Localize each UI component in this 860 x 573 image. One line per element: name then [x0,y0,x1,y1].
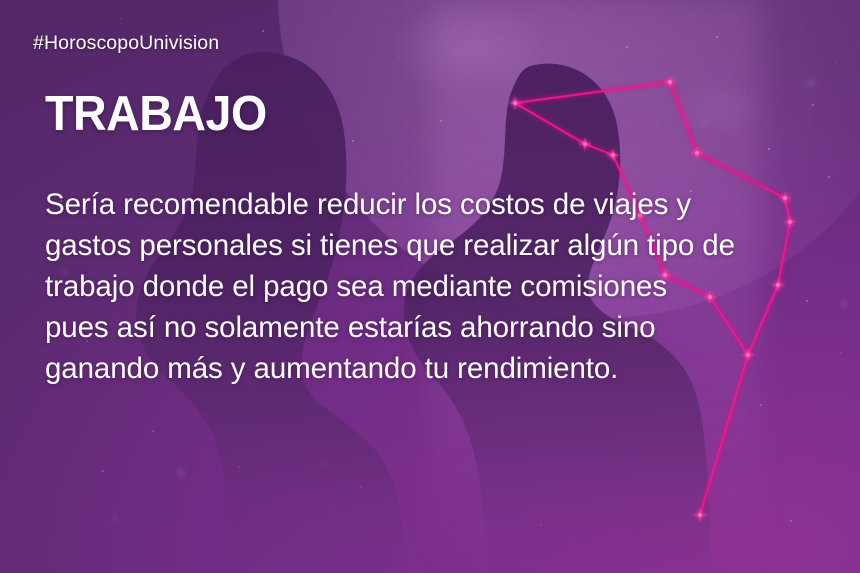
body-line: gastos personales si tienes que realizar… [45,225,845,266]
horoscope-card: #HoroscopoUnivision TRABAJO Sería recome… [0,0,860,573]
constellation-star-core [513,101,517,105]
constellation-line [585,144,613,155]
constellation-star-core [695,151,699,155]
body-line: Sería recomendable reducir los costos de… [45,184,845,225]
body-line: ganando más y aumentando tu rendimiento. [45,348,845,389]
page-title: TRABAJO [45,88,267,140]
constellation-star-core [668,80,672,84]
constellation-star-core [611,153,615,157]
constellation-line [670,82,697,153]
constellation-line [515,103,585,144]
constellation-line [515,82,670,103]
body-line: trabajo donde el pago sea mediante comis… [45,266,845,307]
constellation-star-core [698,513,702,517]
body-line: pues así no solamente estarías ahorrando… [45,307,845,348]
constellation-star-core [583,142,587,146]
hashtag-label: #HoroscopoUnivision [33,32,219,55]
horoscope-body-text: Sería recomendable reducir los costos de… [45,184,845,389]
